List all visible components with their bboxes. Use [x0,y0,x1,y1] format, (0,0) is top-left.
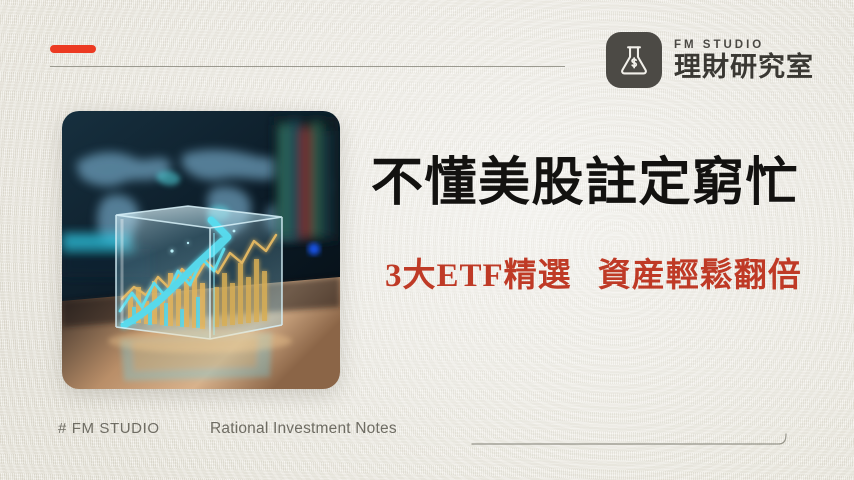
page-subtitle: 3大ETF精選資産輕鬆翻倍 [385,258,802,294]
top-divider-line [50,66,565,67]
subtitle-left: 3大ETF精選 [385,258,572,294]
footer-note: Rational Investment Notes [210,420,397,438]
brand-name: 理財研究室 [674,53,814,81]
page-title: 不懂美股註定窮忙 [371,157,799,209]
red-accent-bar [50,45,96,53]
footer-divider-line [472,432,788,446]
subtitle-right: 資産輕鬆翻倍 [598,258,802,294]
slide-canvas: FM STUDIO 理財研究室 [0,0,854,480]
glass-cube-stock-chart-photo[interactable] [62,111,340,389]
flask-dollar-icon [606,32,662,88]
footer-hashtag: # FM STUDIO [58,420,160,437]
brand-logo-text: FM STUDIO 理財研究室 [674,39,814,82]
brand-kicker: FM STUDIO [674,39,814,52]
brand-logo[interactable]: FM STUDIO 理財研究室 [606,32,814,88]
